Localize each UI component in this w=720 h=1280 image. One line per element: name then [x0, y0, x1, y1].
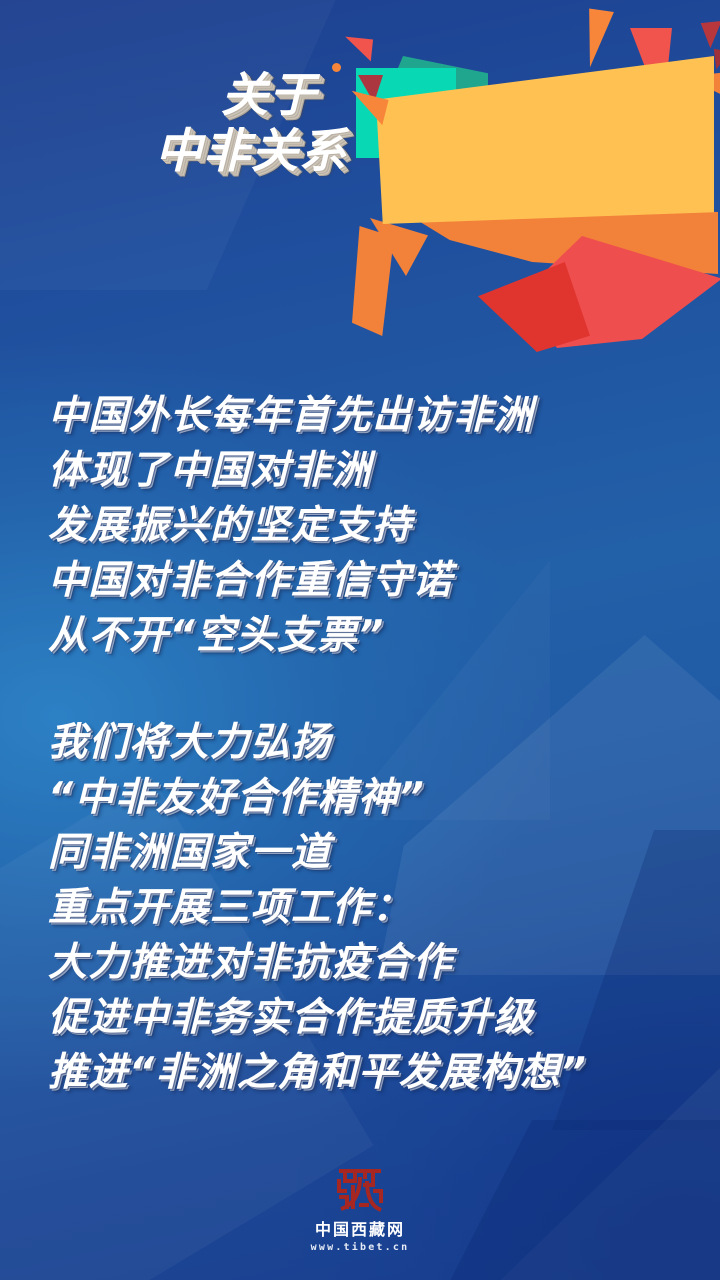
header-banner	[330, 0, 720, 330]
paragraph-2: 我们将大力弘扬 “中非友好合作精神” 同非洲国家一道 重点开展三项工作： 大力推…	[48, 715, 688, 1100]
confetti-dot-orange	[332, 63, 341, 72]
poster-canvas: 关于 中非关系 中国外长每年首先出访非洲 体现了中国对非洲 发展振兴的坚定支持 …	[0, 0, 720, 1280]
copy-line: 大力推进对非抗疫合作	[48, 935, 688, 990]
poster-title: 关于 中非关系	[128, 72, 374, 175]
confetti-triangle-darkred-small	[701, 21, 720, 49]
copy-line: 同非洲国家一道	[48, 825, 688, 880]
copy-line: 我们将大力弘扬	[48, 715, 688, 770]
china-tibet-seal-logo-icon	[333, 1165, 387, 1215]
copy-line: 推进“非洲之角和平发展构想”	[48, 1045, 688, 1100]
banner-orange-strip	[352, 226, 394, 336]
copy-line: 中国对非合作重信守诺	[48, 553, 688, 608]
copy-line: “中非友好合作精神”	[48, 770, 688, 825]
copy-line: 促进中非务实合作提质升级	[48, 990, 688, 1045]
title-line-2: 中非关系	[128, 128, 374, 175]
copy-line: 中国外长每年首先出访非洲	[48, 388, 688, 443]
copy-line: 体现了中国对非洲	[48, 443, 688, 498]
footer: 中国西藏网 www.tibet.cn	[0, 1165, 720, 1256]
confetti-triangle-red-left	[343, 37, 373, 62]
body-copy: 中国外长每年首先出访非洲 体现了中国对非洲 发展振兴的坚定支持 中国对非合作重信…	[48, 388, 688, 1100]
title-line-1: 关于	[164, 72, 374, 119]
paragraph-1: 中国外长每年首先出访非洲 体现了中国对非洲 发展振兴的坚定支持 中国对非合作重信…	[48, 388, 688, 663]
copy-line: 发展振兴的坚定支持	[48, 498, 688, 553]
footer-site-url: www.tibet.cn	[0, 1240, 720, 1256]
copy-line: 重点开展三项工作：	[48, 880, 688, 935]
copy-line: 从不开“空头支票”	[48, 608, 688, 663]
confetti-triangle-orange-top	[581, 9, 614, 70]
footer-site-name: 中国西藏网	[0, 1220, 720, 1240]
